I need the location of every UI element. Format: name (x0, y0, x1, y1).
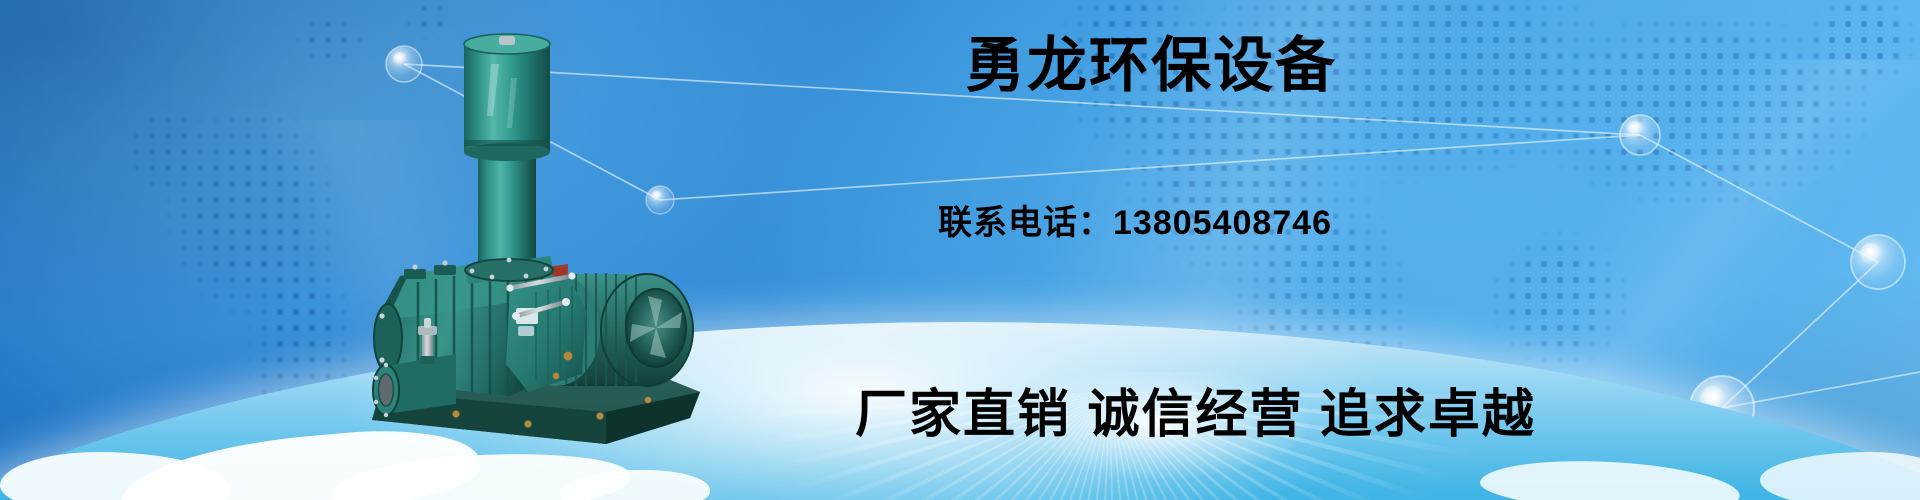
air-filter-silencer (464, 34, 550, 161)
motor-fan-cover (626, 289, 686, 367)
riser-pipe (478, 141, 536, 276)
node-upper-right (1620, 115, 1660, 155)
promotional-banner: 勇龙环保设备 联系电话：13805408746 厂家直销 诚信经营 追求卓越 (0, 0, 1920, 500)
product-image-roots-blower (360, 20, 720, 480)
company-title: 勇龙环保设备 (965, 34, 1337, 97)
gearbox-cover (506, 276, 586, 392)
slogan-line: 厂家直销 诚信经营 追求卓越 (855, 372, 1536, 447)
contact-phone-line: 联系电话：13805408746 (938, 195, 1332, 244)
